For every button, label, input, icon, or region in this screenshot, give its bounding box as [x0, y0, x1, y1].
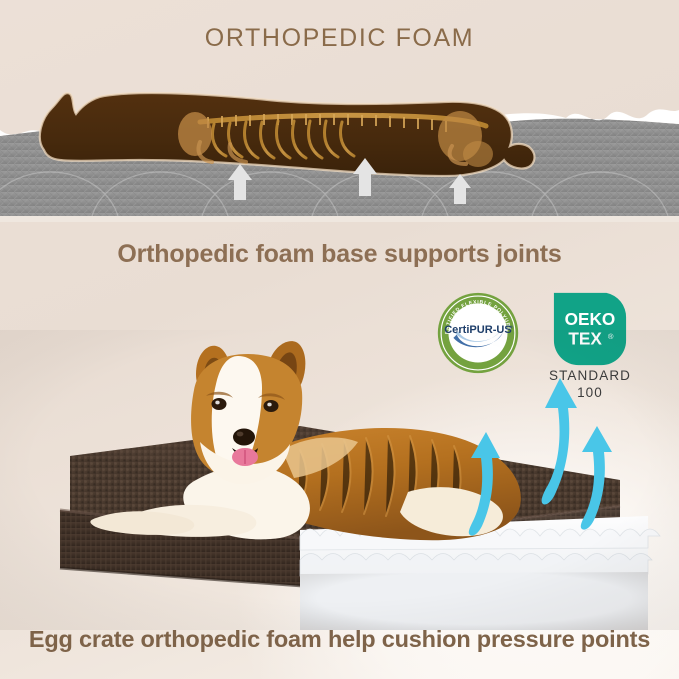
scene-caption: Egg crate orthopedic foam help cushion p…	[0, 626, 679, 653]
foam-cross-section-diagram	[0, 80, 679, 238]
oeko-line1: OEKO	[565, 309, 616, 329]
dog-on-bed-photo	[0, 330, 679, 630]
page-title: ORTHOPEDIC FOAM	[0, 24, 679, 53]
diagram-caption: Orthopedic foam base supports joints	[0, 240, 679, 269]
infographic-root: ORTHOPEDIC FOAM	[0, 0, 679, 679]
